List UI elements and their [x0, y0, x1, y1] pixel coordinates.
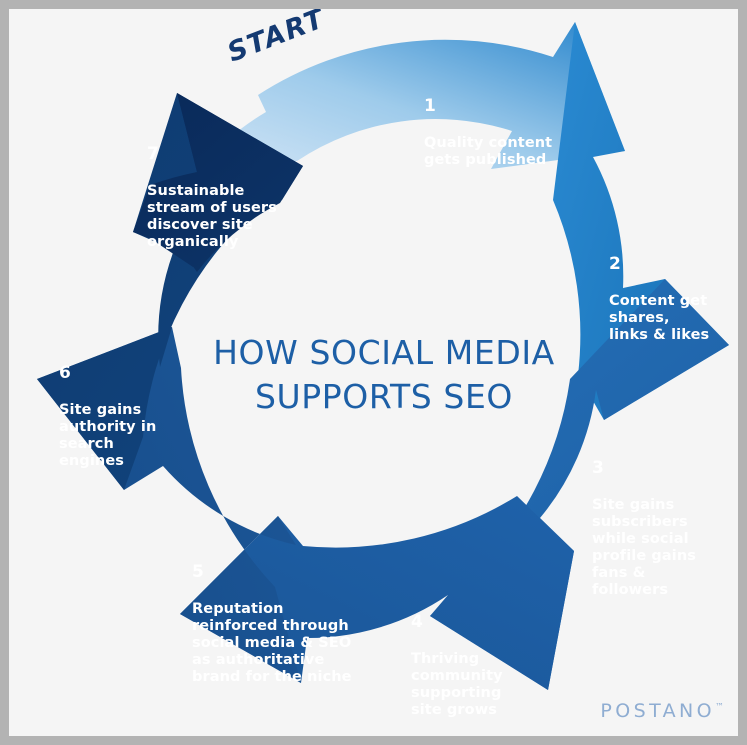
segment-text-5: Reputation reinforced through social med…: [192, 601, 352, 685]
segment-label-7: 7 Sustainable stream of users discover s…: [147, 127, 297, 251]
postano-logo: POSTANO™: [600, 700, 724, 722]
segment-label-2: 2 Content get shares, links & likes: [609, 237, 729, 344]
segment-label-6: 6 Site gains authority in search engines: [59, 346, 169, 470]
segment-number-3: 3: [592, 458, 712, 479]
segment-text-7: Sustainable stream of users discover sit…: [147, 183, 277, 250]
page-title: HOW SOCIAL MEDIA SUPPORTS SEO: [177, 331, 591, 419]
segment-text-6: Site gains authority in search engines: [59, 402, 156, 469]
segment-label-3: 3 Site gains subscribers while social pr…: [592, 441, 712, 599]
segment-label-5: 5 Reputation reinforced through social m…: [192, 545, 377, 686]
segment-number-4: 4: [411, 612, 541, 633]
segment-text-2: Content get shares, links & likes: [609, 293, 709, 343]
trademark-icon: ™: [715, 703, 724, 713]
logo-text: POSTANO: [600, 700, 715, 722]
segment-number-1: 1: [424, 96, 584, 117]
infographic-canvas: START 1 Quality content gets published 2…: [9, 9, 738, 736]
segment-text-4: Thriving community supporting site grows: [411, 651, 503, 718]
segment-text-1: Quality content gets published: [424, 135, 552, 168]
segment-number-6: 6: [59, 363, 169, 384]
segment-label-1: 1 Quality content gets published: [424, 79, 584, 169]
segment-number-2: 2: [609, 254, 729, 275]
infographic-frame: START 1 Quality content gets published 2…: [0, 0, 747, 745]
segment-number-5: 5: [192, 562, 377, 583]
segment-text-3: Site gains subscribers while social prof…: [592, 497, 696, 598]
segment-number-7: 7: [147, 144, 297, 165]
segment-label-4: 4 Thriving community supporting site gro…: [411, 595, 541, 719]
